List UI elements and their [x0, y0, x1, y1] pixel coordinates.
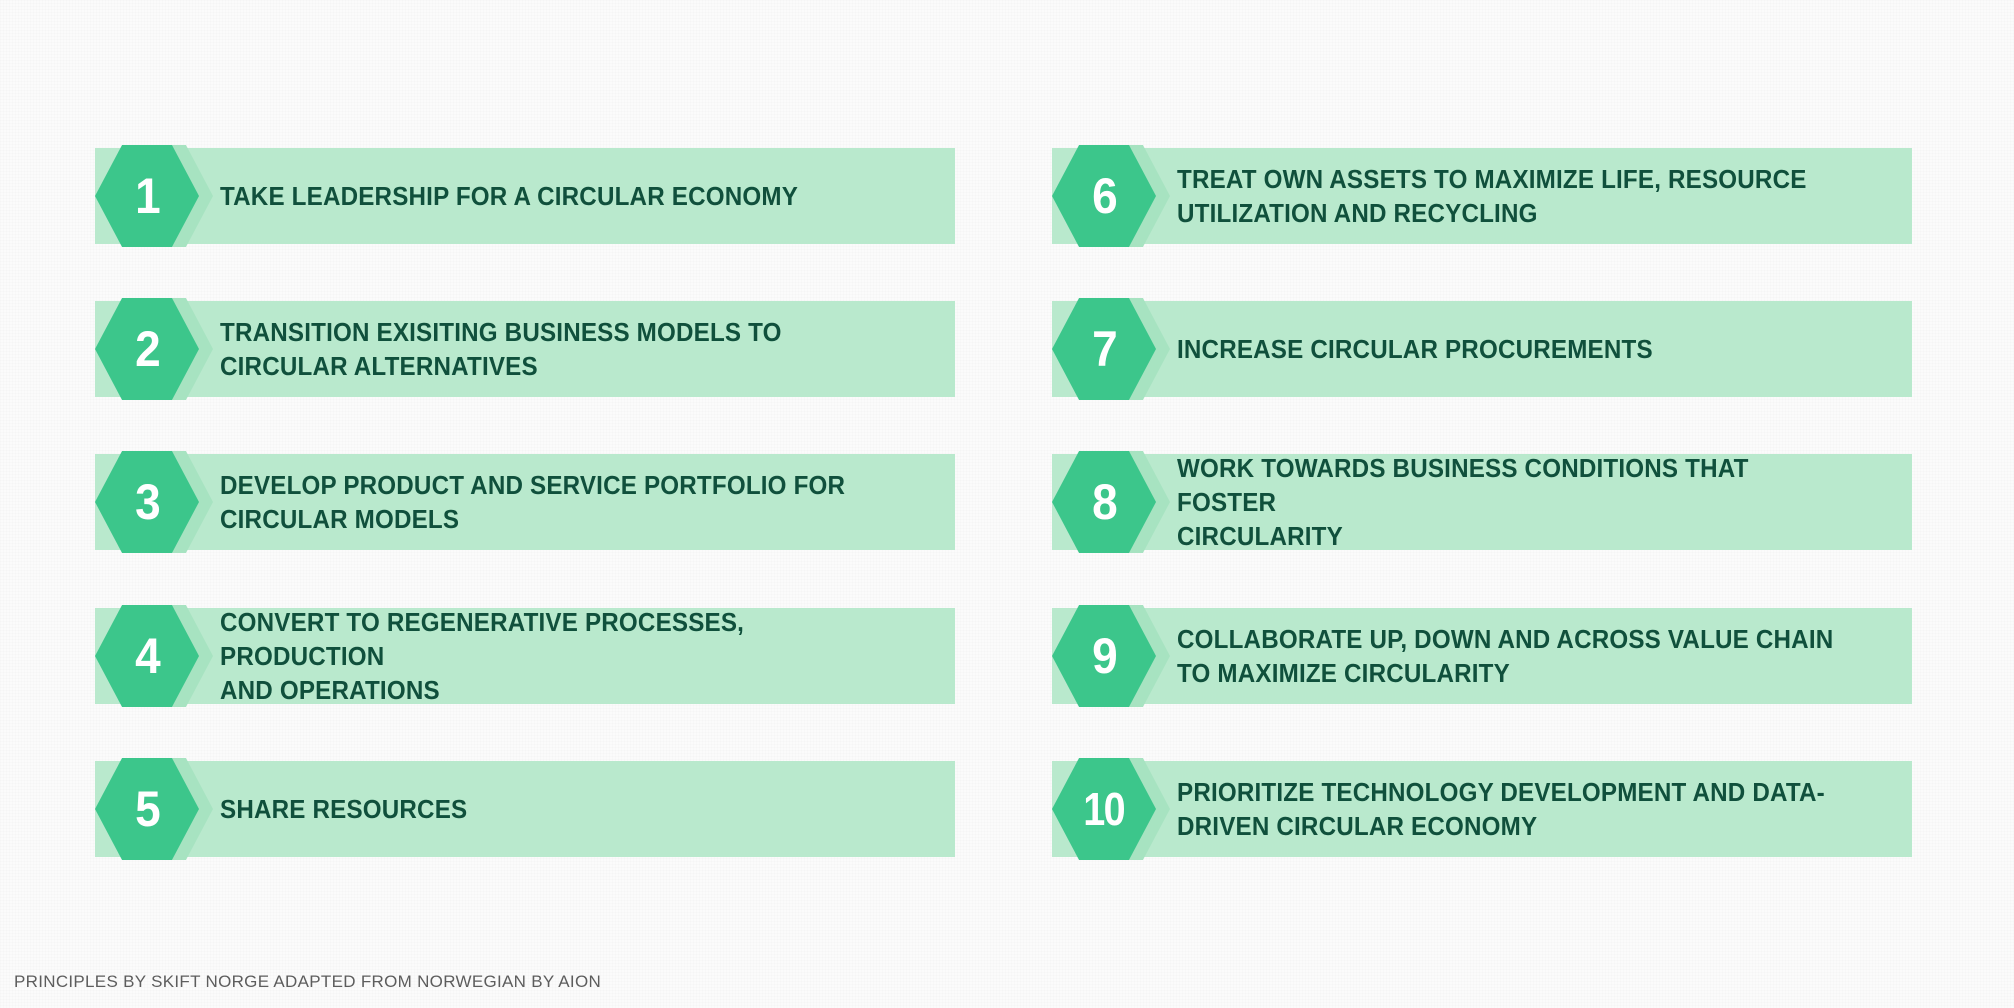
principle-label: TAKE LEADERSHIP FOR A CIRCULAR ECONOMY	[220, 148, 894, 244]
principles-board: 1TAKE LEADERSHIP FOR A CIRCULAR ECONOMY2…	[0, 0, 2014, 1008]
principle-label: TREAT OWN ASSETS TO MAXIMIZE LIFE, RESOU…	[1177, 148, 1851, 244]
principle-label: INCREASE CIRCULAR PROCUREMENTS	[1177, 301, 1851, 397]
principle-label: WORK TOWARDS BUSINESS CONDITIONS THAT FO…	[1177, 454, 1851, 550]
principle-number: 9	[1092, 631, 1117, 681]
principle-number: 5	[135, 784, 160, 834]
principle-label: PRIORITIZE TECHNOLOGY DEVELOPMENT AND DA…	[1177, 761, 1851, 857]
principle-number: 4	[135, 631, 160, 681]
footer-credit: PRINCIPLES BY SKIFT NORGE ADAPTED FROM N…	[14, 972, 601, 992]
principle-number: 3	[135, 477, 160, 527]
principle-number: 7	[1092, 324, 1117, 374]
principle-number: 8	[1092, 477, 1117, 527]
principle-label: COLLABORATE UP, DOWN AND ACROSS VALUE CH…	[1177, 608, 1851, 704]
principle-number: 6	[1092, 171, 1117, 221]
principle-number: 1	[135, 171, 160, 221]
principle-label: DEVELOP PRODUCT AND SERVICE PORTFOLIO FO…	[220, 454, 894, 550]
principle-label: CONVERT TO REGENERATIVE PROCESSES, PRODU…	[220, 608, 894, 704]
principle-number: 10	[1084, 786, 1125, 832]
principle-label: SHARE RESOURCES	[220, 761, 894, 857]
principle-label: TRANSITION EXISITING BUSINESS MODELS TO …	[220, 301, 894, 397]
principle-number: 2	[135, 324, 160, 374]
